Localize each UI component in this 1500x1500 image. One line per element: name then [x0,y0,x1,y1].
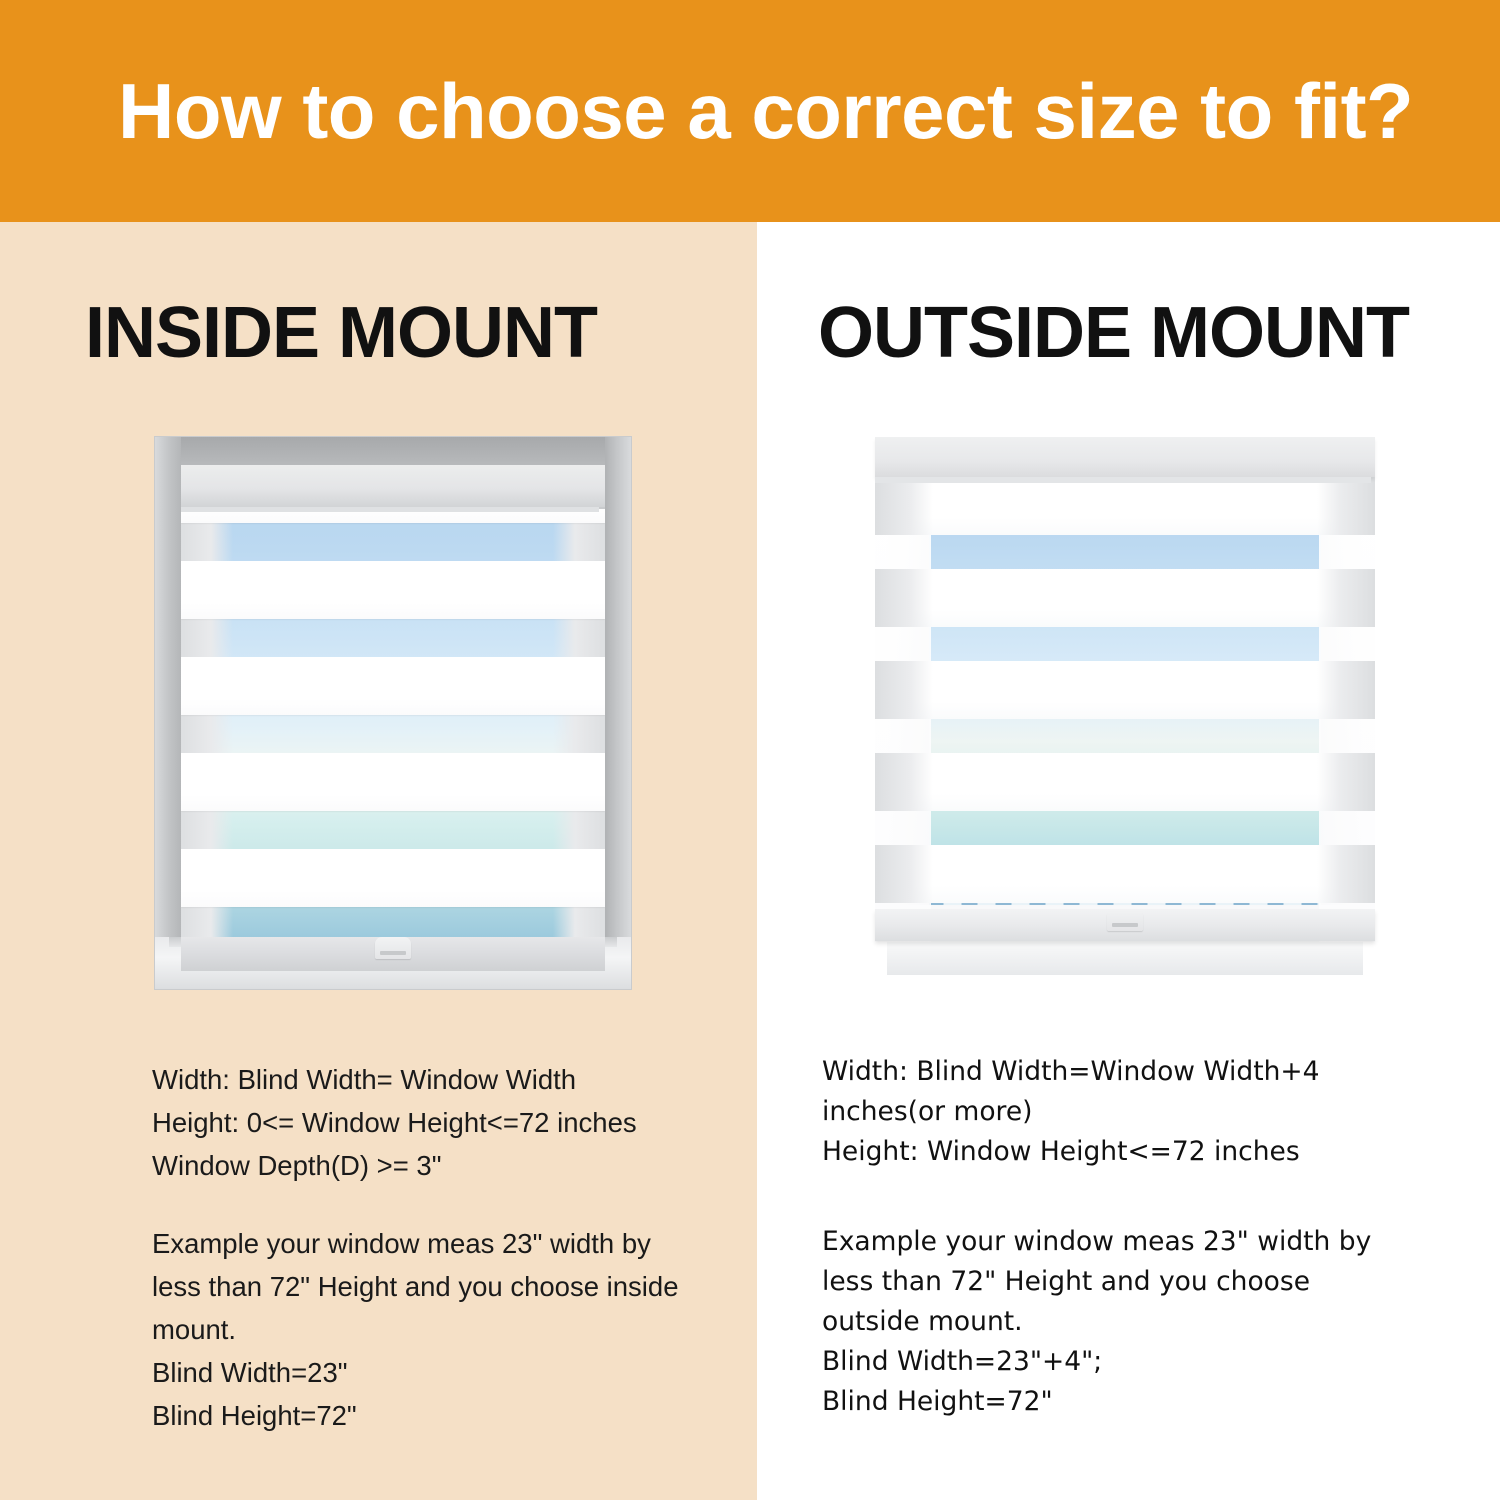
spec-line: Width: Blind Width=Window Width+4 [822,1052,1422,1092]
outside-mount-spec-block: Width: Blind Width=Window Width+4 inches… [822,1052,1422,1172]
window-jamb-right [1321,475,1363,975]
island-shape [969,763,1199,785]
blind-bottom-rail [181,937,605,971]
window-sill [887,905,1363,975]
example-line: Blind Width=23"+4"; [822,1342,1422,1382]
example-line: less than 72" Height and you choose [822,1262,1422,1302]
inside-mount-example-block: Example your window meas 23" width by le… [152,1222,727,1437]
outside-mount-heading: OUTSIDE MOUNT [818,297,1409,369]
window-jamb-right [605,437,631,989]
blind-pull-tab[interactable] [375,937,411,959]
spec-line: inches(or more) [822,1092,1422,1132]
blind-slat [181,849,605,907]
inside-mount-spec-block: Width: Blind Width= Window Width Height:… [152,1058,727,1187]
outside-mount-example-block: Example your window meas 23" width by le… [822,1222,1422,1422]
outside-mount-window-illustration [865,437,1385,989]
header-banner: How to choose a correct size to fit? [0,0,1500,222]
example-line: less than 72" Height and you choose insi… [152,1265,727,1308]
inside-mount-window-illustration [155,437,631,989]
spec-line: Height: 0<= Window Height<=72 inches [152,1101,727,1144]
example-line: Blind Height=72" [152,1394,727,1437]
window-view-scene [929,475,1321,905]
window-jamb-left [887,475,929,975]
window-frame [887,475,1363,975]
window-jamb-left [155,437,181,989]
spec-line: Width: Blind Width= Window Width [152,1058,727,1101]
example-line: Blind Width=23" [152,1351,727,1394]
blind-slat [181,561,605,619]
blind-headrail [875,437,1375,477]
blind-headrail [181,465,605,509]
example-line: Example your window meas 23" width by [822,1222,1422,1262]
page-title: How to choose a correct size to fit? [118,72,1413,150]
spec-line: Height: Window Height<=72 inches [822,1132,1422,1172]
zebra-blind-inside [181,465,605,937]
window-glass [929,475,1321,905]
blind-slat [181,753,605,811]
window-head-reveal [155,437,631,465]
blind-slat [181,657,605,715]
infographic-page: How to choose a correct size to fit? INS… [0,0,1500,1500]
example-line: mount. [152,1308,727,1351]
spec-line: Window Depth(D) >= 3" [152,1144,727,1187]
example-line: Blind Height=72" [822,1382,1422,1422]
sea-waves [929,855,1321,905]
inside-mount-heading: INSIDE MOUNT [85,297,597,369]
example-line: Example your window meas 23" width by [152,1222,727,1265]
example-line: outside mount. [822,1302,1422,1342]
